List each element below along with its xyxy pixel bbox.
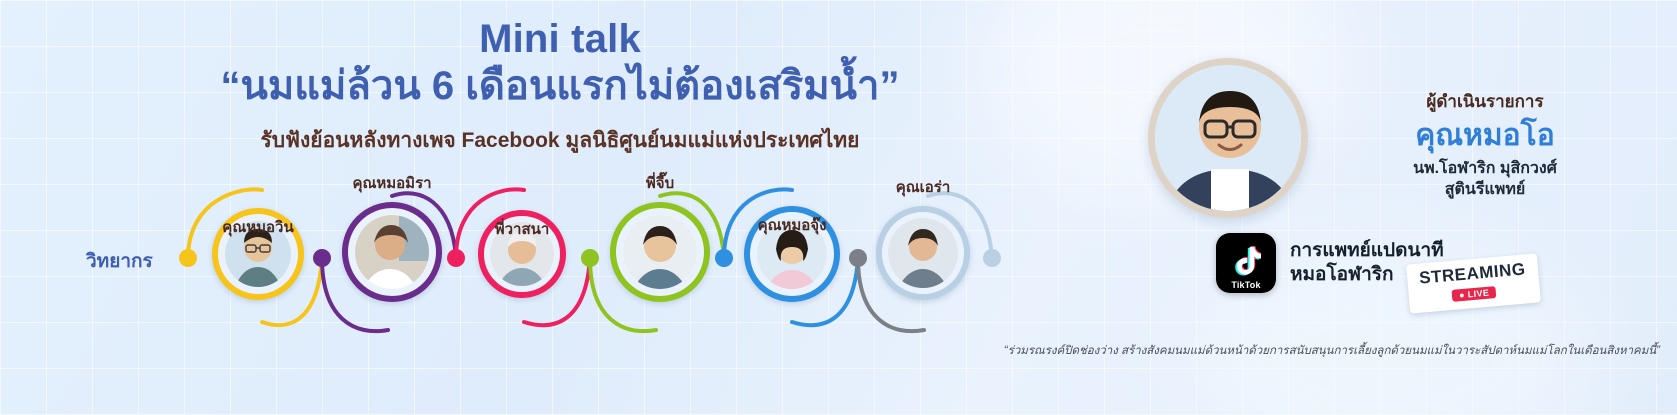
mini-talk-banner: Mini talk “นมแม่ล้วน 6 เดือนแรกไม่ต้องเส… <box>0 0 1677 415</box>
host-name: คุณหมอโอ <box>1320 119 1650 154</box>
speaker-name-3: พี่วาสนา <box>495 217 550 241</box>
host-title: สูตินรีแพทย์ <box>1320 179 1650 201</box>
speaker-avatar-2 <box>355 215 429 289</box>
subtitle: รับฟังย้อนหลังทางเพจ Facebook มูลนิธิศูน… <box>0 124 1120 157</box>
live-badge: ● LIVE <box>1452 286 1497 302</box>
timeline-dot <box>581 249 599 267</box>
timeline-dot <box>447 249 465 267</box>
person-photo-icon <box>623 215 697 289</box>
speaker-ring-4 <box>610 202 710 302</box>
person-photo-icon <box>355 215 429 289</box>
footer-note: “ร่วมรณรงค์ปิดช่องว่าง สร้างสังคมนมแม่ด้… <box>840 342 1660 360</box>
speaker-name-5: คุณหมอจุ๊ง <box>758 213 827 237</box>
timeline-dot <box>313 249 331 267</box>
person-photo-icon <box>888 218 958 288</box>
speaker-avatar-6 <box>888 218 958 288</box>
host-avatar <box>1155 65 1301 211</box>
speaker-avatar-4 <box>623 215 697 289</box>
timeline-dot <box>849 249 867 267</box>
host-avatar-frame <box>1148 58 1308 218</box>
streaming-badge: STREAMING ● LIVE <box>1406 253 1540 313</box>
title-block: Mini talk “นมแม่ล้วน 6 เดือนแรกไม่ต้องเส… <box>0 18 1120 157</box>
headline: “นมแม่ล้วน 6 เดือนแรกไม่ต้องเสริมน้ำ” <box>0 62 1120 110</box>
speaker-ring-2 <box>342 202 442 302</box>
timeline-dot <box>983 249 1001 267</box>
channel-name-line1: การแพทย์แปดนาที <box>1290 239 1444 263</box>
tiktok-icon[interactable]: TikTok <box>1216 233 1276 293</box>
host-text-block: ผู้ดำเนินรายการ คุณหมอโอ นพ.โอฬาริก มุสิ… <box>1320 88 1650 201</box>
host-photo-icon <box>1155 65 1301 211</box>
speaker-timeline: วิทยากร <box>0 180 1080 350</box>
tiktok-note-icon <box>1231 245 1261 277</box>
speaker-name-4: พี่จี๊บ <box>646 171 674 195</box>
host-role: ผู้ดำเนินรายการ <box>1320 88 1650 115</box>
page-title: Mini talk <box>0 18 1120 60</box>
speaker-name-1: คุณหมอวิน <box>222 215 293 239</box>
timeline-dot <box>715 249 733 267</box>
tiktok-wordmark: TikTok <box>1216 280 1276 290</box>
timeline-dot <box>179 249 197 267</box>
streaming-label: STREAMING <box>1419 259 1527 288</box>
speaker-name-2: คุณหมอมิรา <box>352 171 431 195</box>
host-full-name: นพ.โอฬาริก มุสิกวงศ์ <box>1320 158 1650 180</box>
host-panel: ผู้ดำเนินรายการ คุณหมอโอ นพ.โอฬาริก มุสิ… <box>1120 40 1670 380</box>
speaker-name-6: คุณเอร่า <box>896 175 951 199</box>
speaker-ring-6 <box>876 206 970 300</box>
